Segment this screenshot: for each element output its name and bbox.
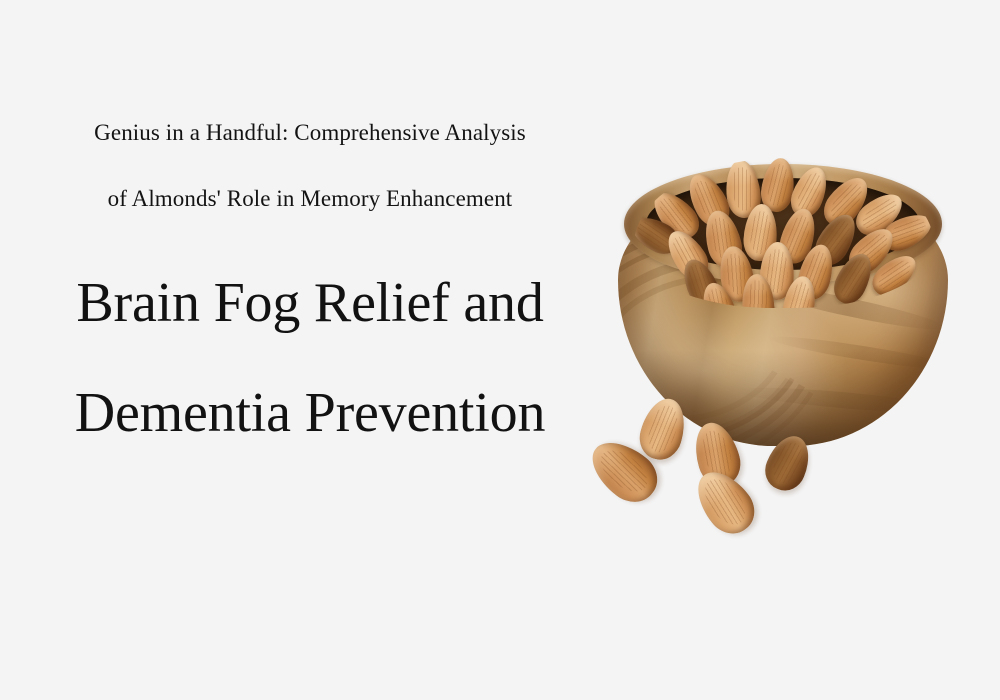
loose-almond	[634, 393, 691, 464]
article-banner: Genius in a Handful: Comprehensive Analy…	[0, 0, 1000, 700]
title-line-2: Dementia Prevention	[0, 358, 620, 468]
almond-bowl-photo	[570, 130, 990, 530]
loose-almond	[759, 430, 817, 497]
eyebrow-line-2: of Almonds' Role in Memory Enhancement	[0, 166, 620, 232]
eyebrow-line-1: Genius in a Handful: Comprehensive Analy…	[0, 100, 620, 166]
title-line-1: Brain Fog Relief and	[0, 248, 620, 358]
eyebrow-text: Genius in a Handful: Comprehensive Analy…	[0, 100, 620, 232]
page-title: Brain Fog Relief and Dementia Prevention	[0, 248, 620, 468]
loose-almonds-group	[570, 130, 990, 530]
